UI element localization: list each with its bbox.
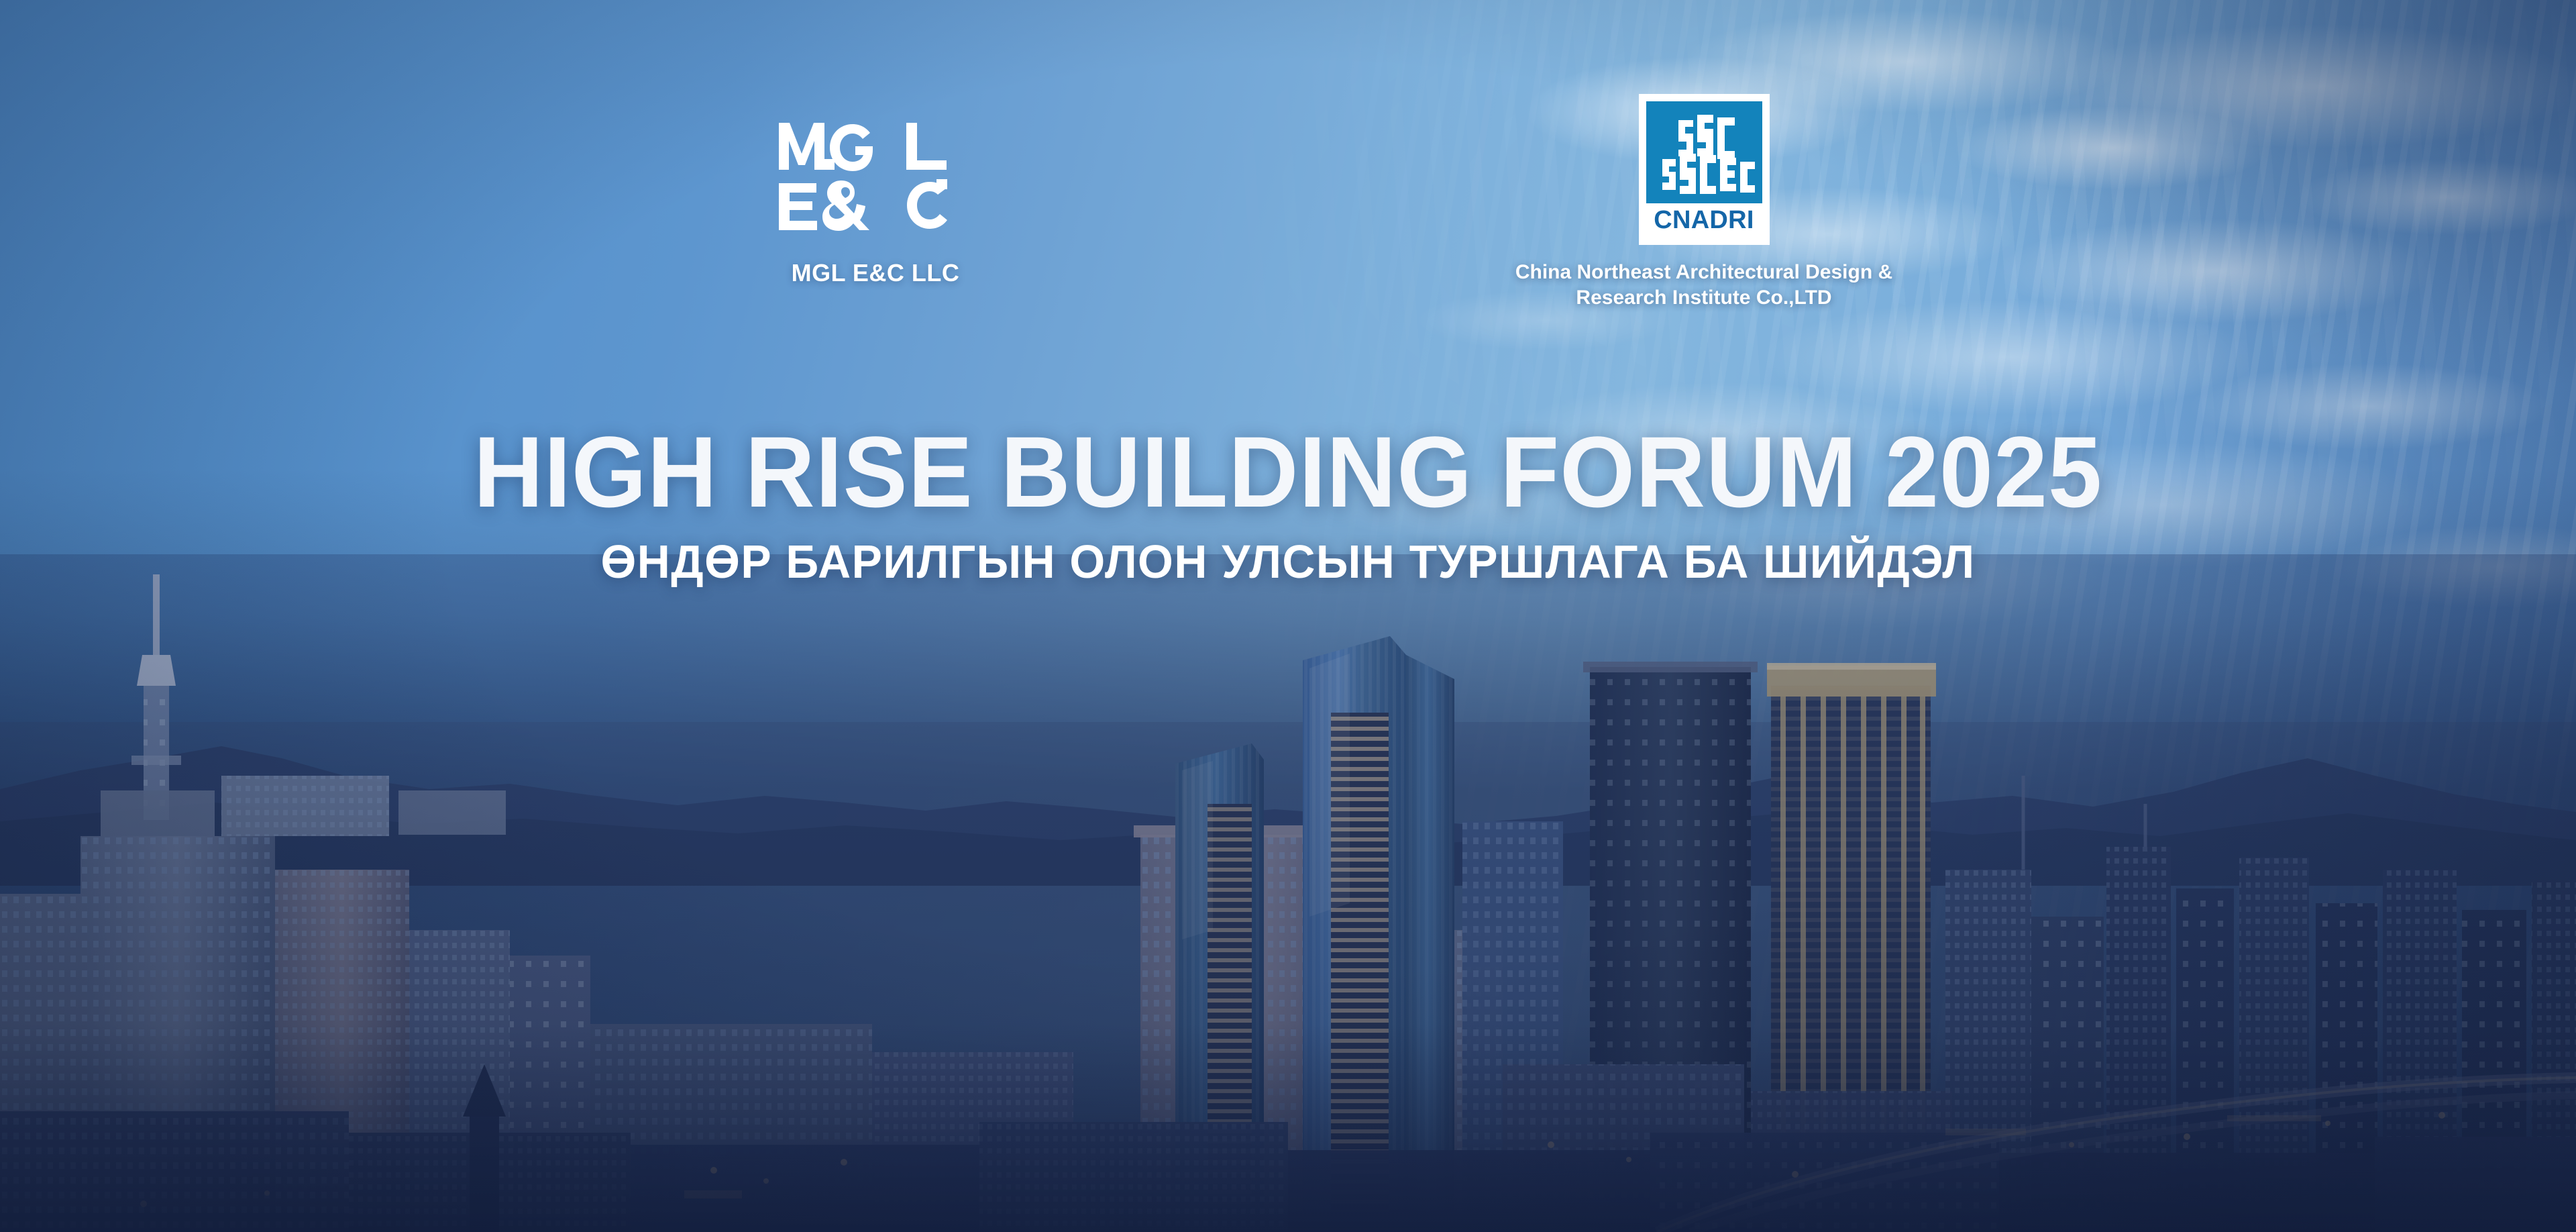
mgl-logo-caption: MGL E&C LLC <box>768 259 983 287</box>
city-skyline <box>0 554 2576 1232</box>
cnadri-caption-line-1: China Northeast Architectural Design & <box>1493 260 1915 285</box>
cscec-emblem-icon <box>1646 101 1762 203</box>
page-title: HIGH RISE BUILDING FORUM 2025 <box>52 421 2524 522</box>
cnadri-logo: CNADRI China Northeast Architectural Des… <box>1493 94 1915 311</box>
cnadri-caption: China Northeast Architectural Design & R… <box>1493 260 1915 311</box>
sponsor-logo-row: MGL E&C LLC <box>0 0 2576 376</box>
title-block: HIGH RISE BUILDING FORUM 2025 ӨНДӨР БАРИ… <box>0 421 2576 585</box>
forum-poster: MGL E&C LLC <box>0 0 2576 1232</box>
mgl-logo-mark <box>775 117 976 236</box>
mgl-ec-logo: MGL E&C LLC <box>768 117 983 287</box>
cnadri-caption-line-2: Research Institute Co.,LTD <box>1493 285 1915 311</box>
cnadri-emblem <box>1646 101 1762 203</box>
cnadri-badge: CNADRI <box>1639 94 1770 245</box>
page-subtitle: ӨНДӨР БАРИЛГЫН ОЛОН УЛСЫН ТУРШЛАГА БА ШИ… <box>39 538 2538 585</box>
cnadri-wordmark: CNADRI <box>1654 207 1754 233</box>
